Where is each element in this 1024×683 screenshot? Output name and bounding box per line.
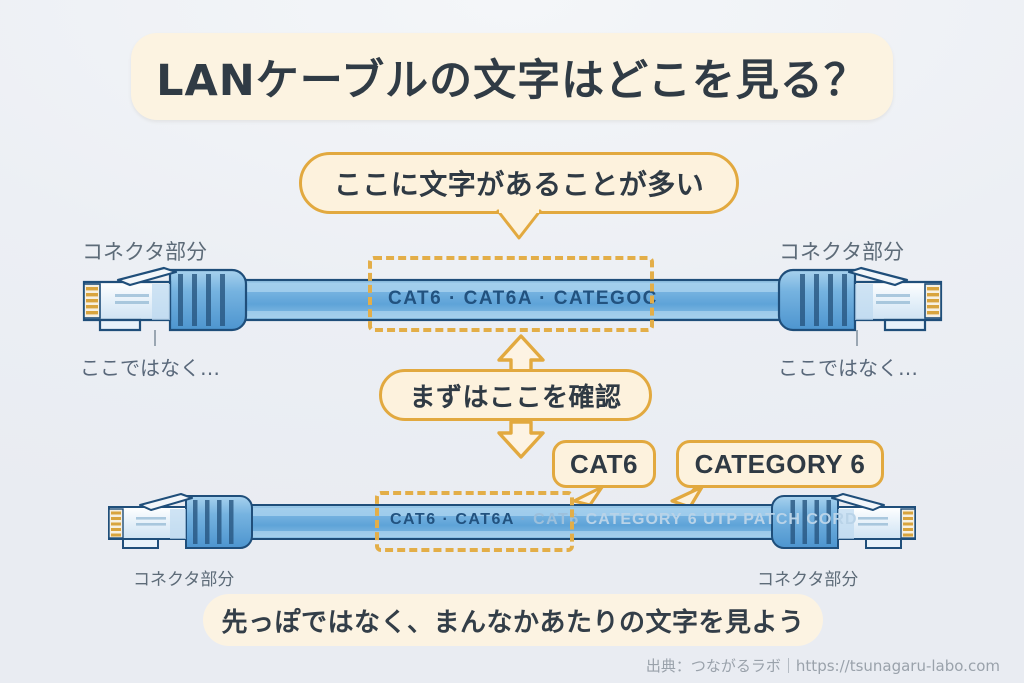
label-note-right: ここではなく… (778, 352, 918, 381)
highlight-box-bottom (375, 491, 574, 552)
arrow-down-icon (495, 419, 547, 459)
callout-cat6: CAT6 (552, 440, 656, 488)
label-connector-top-left: コネクタ部分 (82, 236, 207, 266)
infographic-canvas: LANケーブルの文字はどこを見る？ ここに文字があることが多い (0, 0, 1024, 683)
cable-bottom-print-faded: CATEGORY 6 UTP PATCH CORD (586, 511, 858, 528)
pointer-tick-right (856, 330, 858, 346)
source-credit: 出典：つながるラボ｜https://tsunagaru-labo.com (646, 655, 1000, 676)
label-connector-bottom-right: コネクタ部分 (757, 565, 858, 590)
page-title: LANケーブルの文字はどこを見る？ (131, 33, 893, 120)
pointer-tick-left (154, 330, 156, 346)
callout-top-tail-icon (496, 211, 542, 241)
callout-category6: CATEGORY 6 (676, 440, 884, 488)
label-note-left: ここではなく… (80, 352, 220, 381)
callout-middle-text: まずはここを確認 (379, 369, 652, 421)
label-connector-bottom-left: コネクタ部分 (133, 565, 234, 590)
label-connector-top-right: コネクタ部分 (779, 236, 904, 266)
highlight-box-top (368, 256, 654, 332)
callout-top-text: ここに文字があることが多い (299, 152, 739, 214)
summary-banner: 先っぽではなく、まんなかあたりの文字を見よう (203, 594, 823, 646)
arrow-up-icon (495, 334, 547, 372)
